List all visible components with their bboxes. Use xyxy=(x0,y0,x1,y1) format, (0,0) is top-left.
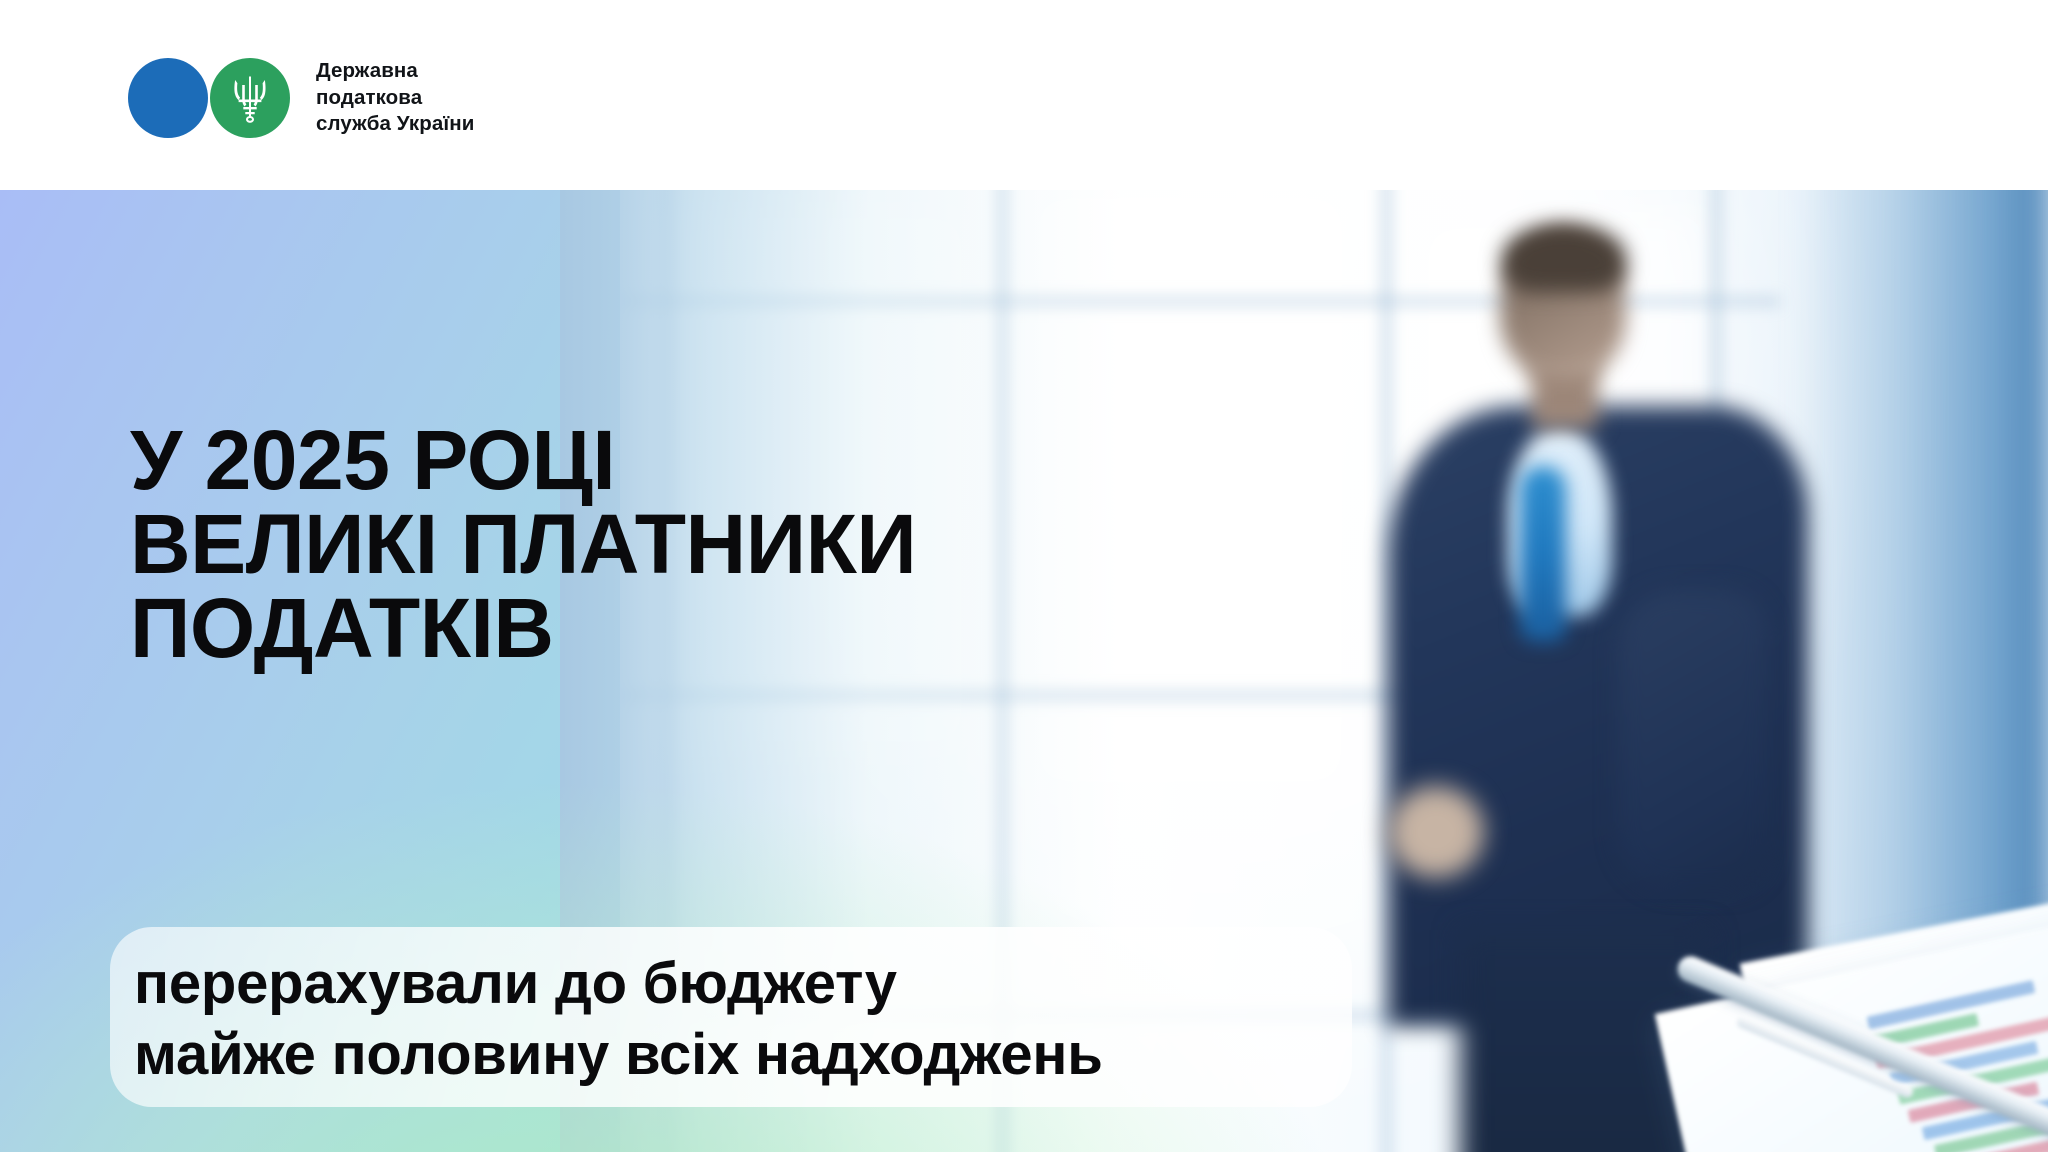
subtitle-text: перерахували до бюджету майже половину в… xyxy=(134,949,1308,1091)
dps-logo[interactable]: Державна податкова служба України xyxy=(128,58,474,138)
hair xyxy=(1502,224,1626,292)
ukraine-trident-icon xyxy=(210,58,290,138)
logo-marks xyxy=(128,58,290,138)
window-pane xyxy=(1020,190,1360,800)
banner-root: Державна податкова служба України xyxy=(0,0,2048,1152)
organization-name: Державна податкова служба України xyxy=(316,58,474,138)
necktie xyxy=(1520,466,1566,642)
hand xyxy=(1388,786,1484,878)
page-title: У 2025 РОЦІ ВЕЛИКІ ПЛАТНИКИ ПОДАТКІВ xyxy=(130,418,916,670)
hero-stage: У 2025 РОЦІ ВЕЛИКІ ПЛАТНИКИ ПОДАТКІВ пер… xyxy=(0,190,2048,1152)
financial-report xyxy=(1620,855,2048,1152)
subtitle-panel: перерахували до бюджету майже половину в… xyxy=(110,927,1352,1107)
blue-circle-icon xyxy=(128,58,208,138)
header-bar: Державна податкова служба України xyxy=(0,0,2048,190)
arm xyxy=(1618,590,1768,890)
